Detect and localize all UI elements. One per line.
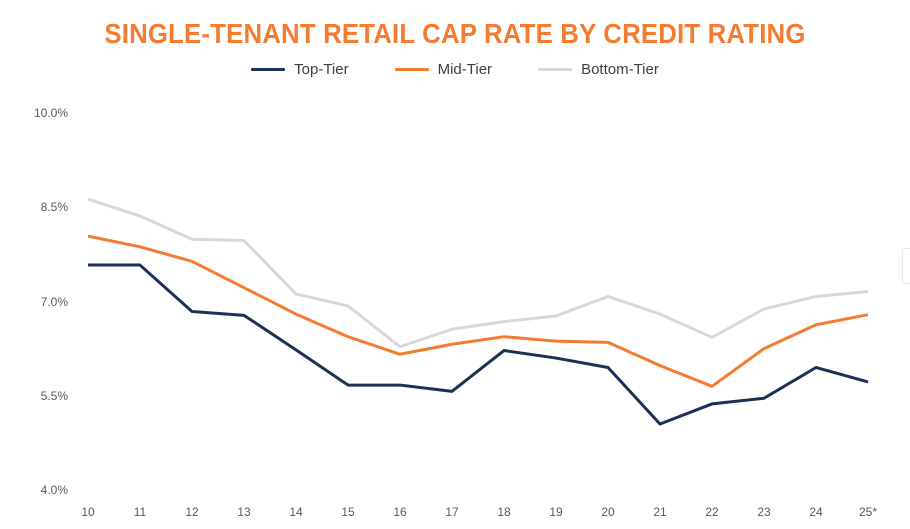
x-axis-tick-label: 13 [237,505,250,519]
x-axis-tick-label: 10 [81,505,94,519]
x-axis-tick-label: 24 [809,505,822,519]
x-axis-tick-label: 17 [445,505,458,519]
plot-area: 4.0%5.5%7.0%8.5%10.0% 101112131415161718… [0,0,910,529]
x-axis-tick-label: 23 [757,505,770,519]
x-axis-tick-label: 25* [859,505,877,519]
x-axis-tick-label: 18 [497,505,510,519]
x-axis-tick-label: 20 [601,505,614,519]
x-axis-tick-label: 14 [289,505,302,519]
x-axis-tick-label: 19 [549,505,562,519]
x-axis-tick-label: 15 [341,505,354,519]
x-axis: 10111213141516171819202122232425* [0,0,910,529]
scroll-nub[interactable] [902,248,910,284]
x-axis-tick-label: 22 [705,505,718,519]
x-axis-tick-label: 21 [653,505,666,519]
x-axis-tick-label: 11 [134,505,146,519]
cap-rate-line-chart: SINGLE-TENANT RETAIL CAP RATE BY CREDIT … [0,0,910,529]
x-axis-tick-label: 12 [185,505,198,519]
x-axis-tick-label: 16 [393,505,406,519]
